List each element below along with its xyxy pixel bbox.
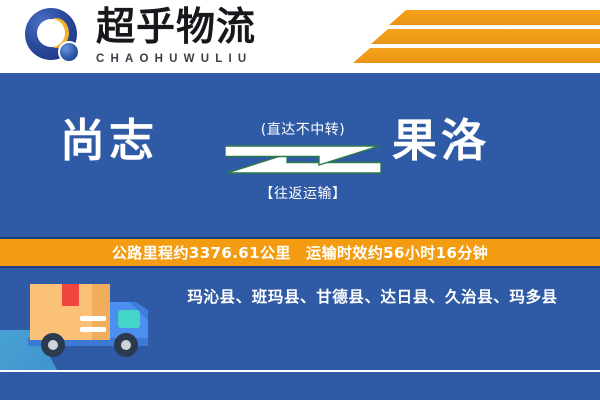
direct-shipping-note: (直达不中转) [218,119,388,139]
distance-and-duration-text: 公路里程约3376.61公里 运输时效约56小时16分钟 [112,242,488,263]
delivery-truck-icon [26,280,150,364]
circle-q-logo-icon [25,8,85,66]
brand-name-chinese: 超乎物流 [96,6,336,50]
origin-city-label: 尚志 [60,113,158,169]
banner-header: 超乎物流 CHAOHUWULIU [0,0,600,73]
destination-city-label: 果洛 [392,113,490,169]
logo-accent-dot [58,41,80,63]
roundtrip-shipping-note: 【往返运输】 [218,183,388,203]
covered-counties-text: 玛沁县、班玛县、甘德县、达日县、久治县、玛多县 [160,280,585,312]
decorative-stripe-2 [371,29,600,44]
brand-name-pinyin: CHAOHUWULIU [96,52,336,66]
route-middle-group: (直达不中转) 【往返运输】 [218,89,388,219]
route-info-bar: 公路里程约3376.61公里 运输时效约56小时16分钟 [0,237,600,268]
logistics-route-banner: 超乎物流 CHAOHUWULIU 尚志 (直达不中转) 【往返运输】 果洛 [0,0,600,400]
decorative-stripe-3 [353,48,600,63]
brand-wordmark: 超乎物流 CHAOHUWULIU [96,6,336,66]
coverage-panel: 玛沁县、班玛县、甘德县、达日县、久治县、玛多县 [0,268,600,371]
footer-panel [0,372,600,400]
double-headed-arrow-icon [225,143,381,177]
decorative-stripe-1 [389,10,600,25]
route-panel: 尚志 (直达不中转) 【往返运输】 果洛 [0,73,600,237]
